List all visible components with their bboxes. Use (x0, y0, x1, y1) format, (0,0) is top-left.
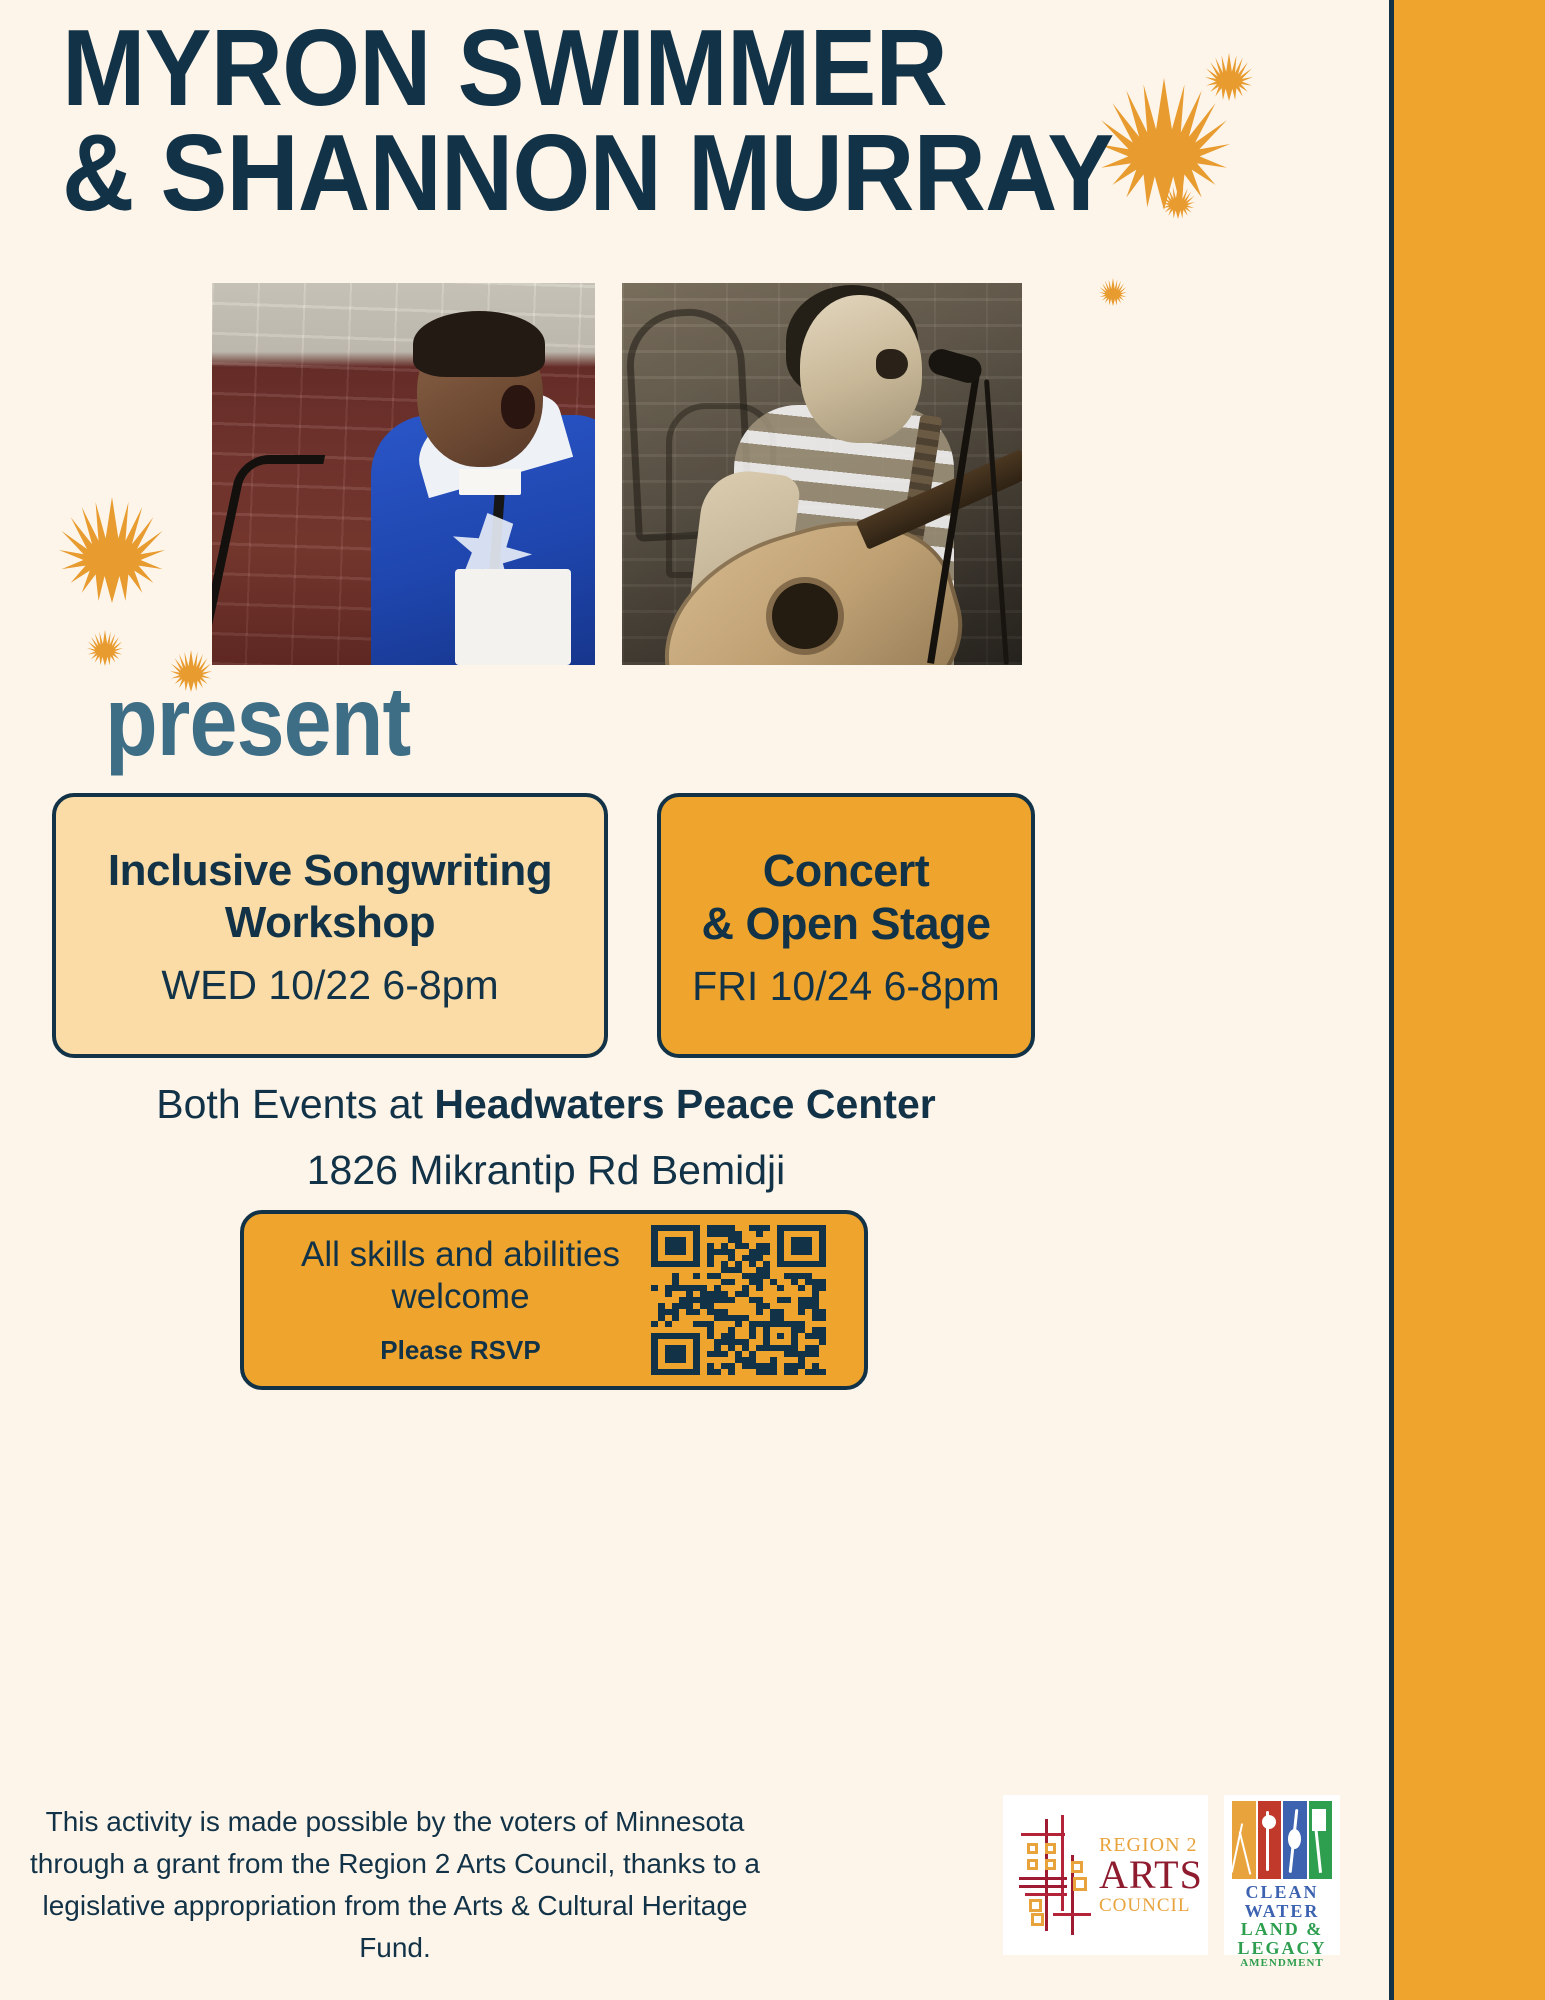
venue-line: Both Events at Headwaters Peace Center (0, 1081, 1092, 1128)
r2ac-council: COUNCIL (1099, 1896, 1203, 1915)
rsvp-text-block: All skills and abilities welcome Please … (244, 1234, 651, 1366)
r2ac-arts: ARTS (1099, 1855, 1203, 1896)
myron-swimmer-photo (212, 283, 595, 665)
cwl-line-4: LEGACY (1232, 1939, 1332, 1958)
venue-address: 1826 Mikrantip Rd Bemidji (0, 1147, 1092, 1194)
poster: MYRON SWIMMER & SHANNON MURRAY (0, 0, 1545, 2000)
cwl-line-3: LAND & (1232, 1920, 1332, 1939)
title-line-1: MYRON SWIMMER (62, 16, 982, 121)
region-2-arts-council-logo: REGION 2 ARTS COUNCIL (1003, 1795, 1208, 1955)
sunburst-icon (1099, 278, 1127, 306)
cwl-wordmark: CLEAN WATER LAND & LEGACY AMENDMENT (1232, 1883, 1332, 1969)
sunburst-icon (59, 497, 165, 603)
rsvp-please: Please RSVP (270, 1335, 651, 1366)
concert-title: Concert & Open Stage (701, 844, 990, 950)
workshop-datetime: WED 10/22 6-8pm (161, 965, 498, 1006)
concert-title-line-2: & Open Stage (701, 898, 990, 949)
rsvp-card[interactable]: All skills and abilities welcome Please … (240, 1210, 868, 1390)
workshop-title: Inclusive Songwriting Workshop (108, 845, 552, 949)
concert-datetime: FRI 10/24 6-8pm (692, 966, 1000, 1007)
concert-title-line-1: Concert (763, 845, 930, 896)
right-orange-stripe (1394, 0, 1545, 2000)
guitar-sound-hole (772, 583, 838, 649)
workshop-title-line-1: Inclusive Songwriting (108, 846, 552, 895)
name-badge (459, 469, 521, 495)
singer-hair (413, 311, 545, 377)
cwl-line-1: CLEAN (1232, 1883, 1332, 1902)
present-word: present (105, 672, 410, 770)
funding-credit: This activity is made possible by the vo… (10, 1801, 780, 1969)
venue-prefix: Both Events at (156, 1081, 434, 1127)
sunburst-icon (87, 630, 123, 666)
event-card-concert[interactable]: Concert & Open Stage FRI 10/24 6-8pm (657, 793, 1035, 1058)
photo-row (212, 283, 1022, 665)
rsvp-welcome: All skills and abilities welcome (270, 1234, 651, 1317)
cwl-line-5: AMENDMENT (1232, 1958, 1332, 1969)
event-card-workshop[interactable]: Inclusive Songwriting Workshop WED 10/22… (52, 793, 608, 1058)
cwl-panels-icon (1232, 1801, 1332, 1879)
open-mouth (876, 349, 908, 379)
clean-water-land-legacy-logo: CLEAN WATER LAND & LEGACY AMENDMENT (1224, 1795, 1340, 1955)
page-title: MYRON SWIMMER & SHANNON MURRAY (62, 16, 982, 225)
shannon-murray-photo (622, 283, 1022, 665)
r2ac-wordmark: REGION 2 ARTS COUNCIL (1099, 1835, 1203, 1915)
qr-code[interactable] (651, 1225, 826, 1375)
workshop-title-line-2: Workshop (225, 898, 435, 947)
rsvp-welcome-line-1: All skills and abilities (301, 1235, 620, 1274)
race-bib (455, 569, 571, 665)
venue-name: Headwaters Peace Center (434, 1081, 935, 1127)
title-line-2: & SHANNON MURRAY (62, 121, 982, 226)
sunburst-icon (1098, 78, 1230, 210)
rsvp-welcome-line-2: welcome (391, 1277, 529, 1316)
open-mouth (501, 385, 535, 429)
cwl-line-2: WATER (1232, 1902, 1332, 1921)
r2ac-mark-icon (1019, 1815, 1091, 1935)
sunburst-icon (1205, 53, 1253, 101)
